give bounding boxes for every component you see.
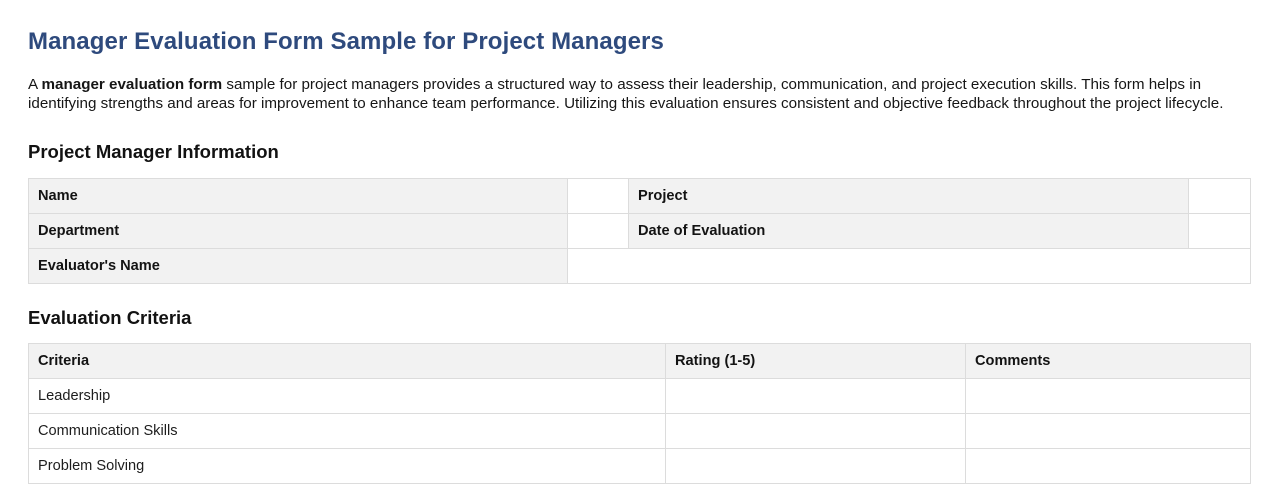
evaluation-criteria-table: Criteria Rating (1-5) Comments Leadershi… xyxy=(28,343,1251,484)
field-value-date-of-evaluation[interactable] xyxy=(1189,214,1251,249)
criteria-name-leadership: Leadership xyxy=(29,379,666,414)
table-row: Problem Solving xyxy=(29,449,1251,484)
field-label-evaluators-name: Evaluator's Name xyxy=(29,249,568,284)
table-row: Department Date of Evaluation xyxy=(29,214,1251,249)
field-label-date-of-evaluation: Date of Evaluation xyxy=(629,214,1189,249)
table-row: Communication Skills xyxy=(29,414,1251,449)
criteria-comments-leadership[interactable] xyxy=(966,379,1251,414)
field-label-department: Department xyxy=(29,214,568,249)
project-manager-information-table: Name Project Department Date of Evaluati… xyxy=(28,178,1251,284)
field-value-project[interactable] xyxy=(1189,179,1251,214)
document-page: Manager Evaluation Form Sample for Proje… xyxy=(0,0,1278,501)
section-heading-evaluation-criteria: Evaluation Criteria xyxy=(28,284,1250,329)
intro-bold-term: manager evaluation form xyxy=(42,76,223,93)
table-header-row: Criteria Rating (1-5) Comments xyxy=(29,344,1251,379)
intro-paragraph: A manager evaluation form sample for pro… xyxy=(28,58,1250,113)
criteria-rating-communication-skills[interactable] xyxy=(666,414,966,449)
table-row: Evaluator's Name xyxy=(29,249,1251,284)
criteria-name-communication-skills: Communication Skills xyxy=(29,414,666,449)
criteria-comments-communication-skills[interactable] xyxy=(966,414,1251,449)
criteria-name-problem-solving: Problem Solving xyxy=(29,449,666,484)
column-header-rating: Rating (1-5) xyxy=(666,344,966,379)
criteria-rating-problem-solving[interactable] xyxy=(666,449,966,484)
column-header-criteria: Criteria xyxy=(29,344,666,379)
intro-lead-text: A xyxy=(28,76,42,93)
column-header-comments: Comments xyxy=(966,344,1251,379)
table-row: Leadership xyxy=(29,379,1251,414)
criteria-comments-problem-solving[interactable] xyxy=(966,449,1251,484)
field-label-project: Project xyxy=(629,179,1189,214)
field-label-name: Name xyxy=(29,179,568,214)
field-value-evaluators-name[interactable] xyxy=(568,249,1251,284)
table-row: Name Project xyxy=(29,179,1251,214)
field-value-name[interactable] xyxy=(568,179,629,214)
field-value-department[interactable] xyxy=(568,214,629,249)
criteria-rating-leadership[interactable] xyxy=(666,379,966,414)
page-title: Manager Evaluation Form Sample for Proje… xyxy=(28,0,1250,58)
section-heading-project-manager-information: Project Manager Information xyxy=(28,113,1250,163)
